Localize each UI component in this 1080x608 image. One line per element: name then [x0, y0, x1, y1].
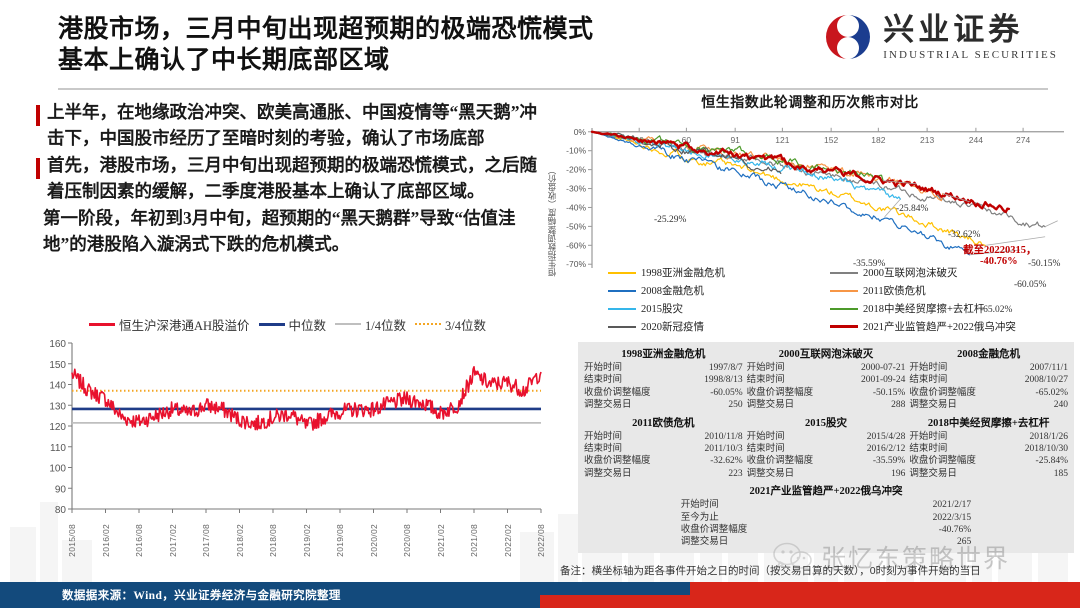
chart-title: 恒生指数此轮调整和历次熊市对比: [548, 92, 1072, 112]
table-row: 调整交易日223: [584, 468, 743, 480]
chart-ah-premium: 恒生沪深港通AH股溢价 中位数 1/4位数 3/4位数 809010011012…: [30, 313, 545, 578]
table-row: 开始时间1997/8/7: [584, 362, 743, 374]
row-key: 收盘价调整幅度: [909, 387, 976, 399]
svg-text:213: 213: [920, 135, 934, 145]
legend-label: 中位数: [289, 315, 327, 334]
chart-plot-area: 恒生指数调整幅度（收盘价） 0%-10%-20%-30%-40%-50%-60%…: [548, 118, 1072, 336]
row-key: 调整交易日: [909, 468, 957, 480]
svg-text:-40%: -40%: [566, 202, 586, 212]
table-row: 开始时间2018/1/26: [909, 431, 1068, 443]
svg-text:-50%: -50%: [566, 221, 586, 231]
row-value: 288: [891, 399, 905, 411]
card-title: 1998亚洲金融危机: [584, 345, 743, 362]
row-value: 2008/10/27: [1025, 374, 1068, 386]
svg-text:-10%: -10%: [566, 146, 586, 156]
row-value: 2010/11/8: [704, 431, 742, 443]
footer-source-text: 数据据来源：Wind，兴业证券经济与金融研究院整理: [62, 587, 341, 603]
svg-text:-30%: -30%: [566, 184, 586, 194]
logo-text-cn: 兴业证券: [883, 14, 1058, 45]
legend-swatch: [830, 272, 858, 274]
row-value: 2011/10/3: [704, 443, 742, 455]
svg-text:244: 244: [969, 135, 983, 145]
svg-text:160: 160: [49, 339, 66, 350]
legend-item: 中位数: [259, 315, 327, 334]
legend-item: 2008金融危机: [608, 283, 826, 298]
table-block-row-2: 2011欧债危机 开始时间2010/11/8 结束时间2011/10/3 收盘价…: [584, 414, 1068, 481]
table-row: 结束时间2011/10/3: [584, 443, 743, 455]
annotation-6005: -60.05%: [1014, 280, 1046, 290]
legend-swatch: [830, 290, 858, 292]
svg-text:182: 182: [871, 135, 885, 145]
legend-swatch: [830, 325, 858, 328]
bear-market-stats-table: 1998亚洲金融危机 开始时间1997/8/7 结束时间1998/8/13 收盘…: [578, 342, 1074, 553]
annotation-asof-date: 截至20220315，: [963, 242, 1037, 257]
svg-text:120: 120: [49, 422, 66, 433]
row-value: -40.76%: [939, 524, 971, 536]
svg-text:140: 140: [49, 381, 66, 392]
legend-swatch: [415, 323, 441, 325]
row-key: 开始时间: [747, 362, 785, 374]
legend-swatch: [830, 308, 858, 310]
row-key: 开始时间: [584, 431, 622, 443]
title-line-2: 基本上确认了中长期底部区域: [58, 45, 758, 76]
svg-text:90: 90: [55, 484, 67, 495]
legend-swatch: [608, 272, 636, 274]
table-row: 结束时间2008/10/27: [909, 374, 1068, 386]
svg-text:91: 91: [730, 135, 740, 145]
svg-text:100: 100: [49, 464, 66, 475]
table-card: 2008金融危机 开始时间2007/11/1 结束时间2008/10/27 收盘…: [909, 345, 1068, 412]
table-row: 调整交易日288: [747, 399, 906, 411]
table-row: 开始时间2010/11/8: [584, 431, 743, 443]
table-row: 结束时间1998/8/13: [584, 374, 743, 386]
title-line-1: 港股市场，三月中旬出现超预期的极端恐慌模式: [58, 14, 758, 45]
svg-text:80: 80: [55, 505, 67, 516]
table-row: 收盘价调整幅度-65.02%: [909, 387, 1068, 399]
x-axis-tick-label: 2022/08: [536, 524, 546, 557]
table-row: 调整交易日250: [584, 399, 743, 411]
row-key: 至今为止: [681, 512, 719, 524]
card-title: 2021产业监管趋严+2022俄乌冲突: [681, 482, 971, 499]
row-value: -50.15%: [873, 387, 905, 399]
table-card: 2011欧债危机 开始时间2010/11/8 结束时间2011/10/3 收盘价…: [584, 414, 743, 481]
legend-label: 2011欧债危机: [863, 283, 926, 298]
row-key: 调整交易日: [681, 536, 729, 548]
row-value: 250: [728, 399, 742, 411]
row-value: 1998/8/13: [704, 374, 743, 386]
chart-y-axis-label: 恒生指数调整幅度（收盘价）: [546, 166, 558, 277]
x-axis-tick-label: 2021/02: [436, 524, 446, 557]
legend-swatch: [608, 326, 636, 328]
legend-item: 1998亚洲金融危机: [608, 265, 826, 280]
row-key: 结束时间: [584, 443, 622, 455]
card-title: 2000互联网泡沫破灭: [747, 345, 906, 362]
bullet-text: 第一阶段，年初到3月中旬，超预期的“黑天鹅群”导致“估值洼地”的港股陷入漩涡式下…: [43, 206, 551, 257]
row-value: 2015/4/28: [867, 431, 906, 443]
row-key: 开始时间: [681, 499, 719, 511]
annotation-3559: -35.59%: [853, 259, 885, 269]
row-key: 调整交易日: [909, 399, 957, 411]
row-value: 240: [1054, 399, 1068, 411]
row-value: 2007/11/1: [1030, 362, 1068, 374]
svg-text:130: 130: [49, 401, 66, 412]
table-row: 收盘价调整幅度-32.62%: [584, 455, 743, 467]
legend-swatch: [335, 323, 361, 325]
x-axis-tick-label: 2020/02: [369, 524, 379, 557]
row-value: -65.02%: [1036, 387, 1068, 399]
legend-label: 2020新冠疫情: [641, 319, 704, 334]
card-title: 2011欧债危机: [584, 414, 743, 431]
svg-text:-70%: -70%: [566, 259, 586, 269]
x-axis-tick-label: 2018/08: [268, 524, 278, 557]
row-key: 收盘价调整幅度: [909, 455, 976, 467]
table-row: 开始时间2007/11/1: [909, 362, 1068, 374]
legend-item: 1/4位数: [335, 315, 406, 334]
row-key: 开始时间: [584, 362, 622, 374]
x-axis-tick-label: 2019/08: [335, 524, 345, 557]
legend-item: 2018中美经贸摩擦+去杠杆: [830, 301, 1048, 316]
row-value: -32.62%: [710, 455, 742, 467]
bullet-item: 第一阶段，年初到3月中旬，超预期的“黑天鹅群”导致“估值洼地”的港股陷入漩涡式下…: [36, 206, 551, 257]
legend-swatch: [608, 290, 636, 292]
x-axis-tick-label: 2017/08: [201, 524, 211, 557]
x-axis-tick-label: 2016/08: [134, 524, 144, 557]
row-key: 收盘价调整幅度: [747, 387, 814, 399]
logo-text-en: INDUSTRIAL SECURITIES: [883, 49, 1058, 61]
table-row: 开始时间2021/2/17: [681, 499, 971, 511]
table-row: 开始时间2000-07-21: [747, 362, 906, 374]
annotation-2529: -25.29%: [654, 215, 686, 225]
row-value: 2018/1/26: [1029, 431, 1068, 443]
card-title: 2008金融危机: [909, 345, 1068, 362]
table-row: 调整交易日240: [909, 399, 1068, 411]
row-key: 结束时间: [747, 374, 785, 386]
table-card: 2015股灾 开始时间2015/4/28 结束时间2016/2/12 收盘价调整…: [747, 414, 906, 481]
row-key: 收盘价调整幅度: [584, 455, 651, 467]
slide-root: 港股市场，三月中旬出现超预期的极端恐慌模式 基本上确认了中长期底部区域 兴业证券…: [0, 0, 1080, 608]
row-value: -60.05%: [710, 387, 742, 399]
row-value: 1997/8/7: [709, 362, 743, 374]
chart-note: 备注：横坐标轴为距各事件开始之日的时间（按交易日算的天数），0时刻为事件开始的当…: [560, 563, 981, 578]
row-key: 调整交易日: [584, 468, 632, 480]
row-key: 结束时间: [909, 443, 947, 455]
card-title: 2018中美经贸摩擦+去杠杆: [909, 414, 1068, 431]
table-row: 收盘价调整幅度-35.59%: [747, 455, 906, 467]
row-key: 结束时间: [747, 443, 785, 455]
row-value: -25.84%: [1036, 455, 1068, 467]
legend-label: 2021产业监管趋严+2022俄乌冲突: [863, 319, 1016, 334]
company-logo: 兴业证券 INDUSTRIAL SECURITIES: [823, 12, 1058, 62]
table-row: 开始时间2015/4/28: [747, 431, 906, 443]
row-value: 185: [1054, 468, 1068, 480]
row-key: 收盘价调整幅度: [747, 455, 814, 467]
row-value: 223: [728, 468, 742, 480]
row-value: -35.59%: [873, 455, 905, 467]
svg-text:0%: 0%: [574, 127, 587, 137]
row-value: 196: [891, 468, 905, 480]
legend-swatch: [259, 323, 285, 326]
row-key: 调整交易日: [584, 399, 632, 411]
annotation-3262: -32.62%: [948, 230, 980, 240]
table-card: 2018中美经贸摩擦+去杠杆 开始时间2018/1/26 结束时间2018/10…: [909, 414, 1068, 481]
card-title: 2015股灾: [747, 414, 906, 431]
legend-item: 2020新冠疫情: [608, 319, 826, 334]
bullet-marker-hollow-icon: [36, 160, 40, 178]
chart-x-axis-labels: 2015/082016/022016/082017/022017/082018/…: [30, 522, 545, 574]
table-row: 收盘价调整幅度-60.05%: [584, 387, 743, 399]
svg-text:121: 121: [775, 135, 789, 145]
legend-label: 恒生沪深港通AH股溢价: [119, 315, 250, 334]
table-card: 1998亚洲金融危机 开始时间1997/8/7 结束时间1998/8/13 收盘…: [584, 345, 743, 412]
table-row: 收盘价调整幅度-25.84%: [909, 455, 1068, 467]
table-row: 收盘价调整幅度-40.76%: [681, 524, 971, 536]
legend-item: 2021产业监管趋严+2022俄乌冲突: [830, 319, 1048, 334]
bullet-text: 首先，港股市场，三月中旬出现超预期的极端恐慌模式，之后随着压制因素的缓解，二季度…: [47, 153, 551, 204]
row-value: 2022/3/15: [933, 512, 972, 524]
row-key: 开始时间: [909, 431, 947, 443]
row-key: 结束时间: [584, 374, 622, 386]
x-axis-tick-label: 2015/08: [67, 524, 77, 557]
row-value: 2000-07-21: [861, 362, 905, 374]
table-row: 调整交易日196: [747, 468, 906, 480]
x-axis-tick-label: 2021/08: [469, 524, 479, 557]
logo-mark-icon: [823, 12, 873, 62]
legend-label: 2015股灾: [641, 301, 683, 316]
annotation-4076: -40.76%: [980, 256, 1018, 267]
svg-text:152: 152: [824, 135, 838, 145]
row-key: 结束时间: [909, 374, 947, 386]
table-row: 结束时间2001-09-24: [747, 374, 906, 386]
bullet-marker-hollow-icon: [36, 107, 40, 125]
row-value: 2021/2/17: [933, 499, 972, 511]
annotation-5015: -50.15%: [1028, 259, 1060, 269]
svg-text:274: 274: [1016, 135, 1030, 145]
chart-svg: 8090100110120130140150160: [30, 337, 545, 522]
table-row: 结束时间2016/2/12: [747, 443, 906, 455]
row-key: 收盘价调整幅度: [681, 524, 748, 536]
row-key: 收盘价调整幅度: [584, 387, 651, 399]
svg-text:110: 110: [50, 443, 66, 454]
footer-bar-blue-overlap: [540, 582, 690, 595]
legend-label: 1998亚洲金融危机: [641, 265, 725, 280]
chart-hang-seng-bear-compare: 恒生指数此轮调整和历次熊市对比 恒生指数调整幅度（收盘价） 0%-10%-20%…: [548, 92, 1072, 340]
legend-swatch: [89, 323, 115, 326]
chart-plot-area: 8090100110120130140150160: [30, 337, 545, 522]
x-axis-tick-label: 2022/02: [503, 524, 513, 557]
title-divider: [58, 88, 1048, 90]
svg-text:-60%: -60%: [566, 240, 586, 250]
table-row: 至今为止2022/3/15: [681, 512, 971, 524]
legend-label: 3/4位数: [445, 315, 486, 334]
table-row: 结束时间2018/10/30: [909, 443, 1068, 455]
annotation-2584: -25.84%: [896, 204, 928, 214]
x-axis-tick-label: 2018/02: [235, 524, 245, 557]
legend-item: 恒生沪深港通AH股溢价: [89, 315, 250, 334]
table-row: 调整交易日185: [909, 468, 1068, 480]
legend-label: 2008金融危机: [641, 283, 704, 298]
page-title: 港股市场，三月中旬出现超预期的极端恐慌模式 基本上确认了中长期底部区域: [58, 14, 758, 76]
bullet-item: 首先，港股市场，三月中旬出现超预期的极端恐慌模式，之后随着压制因素的缓解，二季度…: [36, 153, 551, 204]
row-key: 开始时间: [747, 431, 785, 443]
svg-text:-20%: -20%: [566, 165, 586, 175]
bullet-list: 上半年，在地缘政治冲突、欧美高通胀、中国疫情等“黑天鹅”冲击下，中国股市经历了至…: [36, 100, 551, 259]
table-block-row-1: 1998亚洲金融危机 开始时间1997/8/7 结束时间1998/8/13 收盘…: [584, 345, 1068, 412]
row-key: 调整交易日: [747, 399, 795, 411]
legend-label: 1/4位数: [365, 315, 406, 334]
legend-item: 2015股灾: [608, 301, 826, 316]
annotation-6502: -65.02%: [980, 305, 1012, 315]
row-key: 开始时间: [909, 362, 947, 374]
chart-legend: 1998亚洲金融危机 2000互联网泡沫破灭 2008金融危机 2011欧债危机…: [608, 265, 1048, 334]
row-value: 2001-09-24: [861, 374, 905, 386]
x-axis-tick-label: 2017/02: [168, 524, 178, 557]
x-axis-tick-label: 2019/02: [302, 524, 312, 557]
legend-label: 2018中美经贸摩擦+去杠杆: [863, 301, 984, 316]
x-axis-tick-label: 2016/02: [101, 524, 111, 557]
svg-text:150: 150: [49, 360, 66, 371]
legend-swatch: [608, 308, 636, 310]
chart-legend: 恒生沪深港通AH股溢价 中位数 1/4位数 3/4位数: [30, 313, 545, 335]
x-axis-tick-label: 2020/08: [402, 524, 412, 557]
bullet-item: 上半年，在地缘政治冲突、欧美高通胀、中国疫情等“黑天鹅”冲击下，中国股市经历了至…: [36, 100, 551, 151]
legend-item: 3/4位数: [415, 315, 486, 334]
bullet-text: 上半年，在地缘政治冲突、欧美高通胀、中国疫情等“黑天鹅”冲击下，中国股市经历了至…: [47, 100, 551, 151]
row-value: 2016/2/12: [867, 443, 906, 455]
table-card: 2000互联网泡沫破灭 开始时间2000-07-21 结束时间2001-09-2…: [747, 345, 906, 412]
row-key: 调整交易日: [747, 468, 795, 480]
table-row: 收盘价调整幅度-50.15%: [747, 387, 906, 399]
row-value: 2018/10/30: [1025, 443, 1068, 455]
